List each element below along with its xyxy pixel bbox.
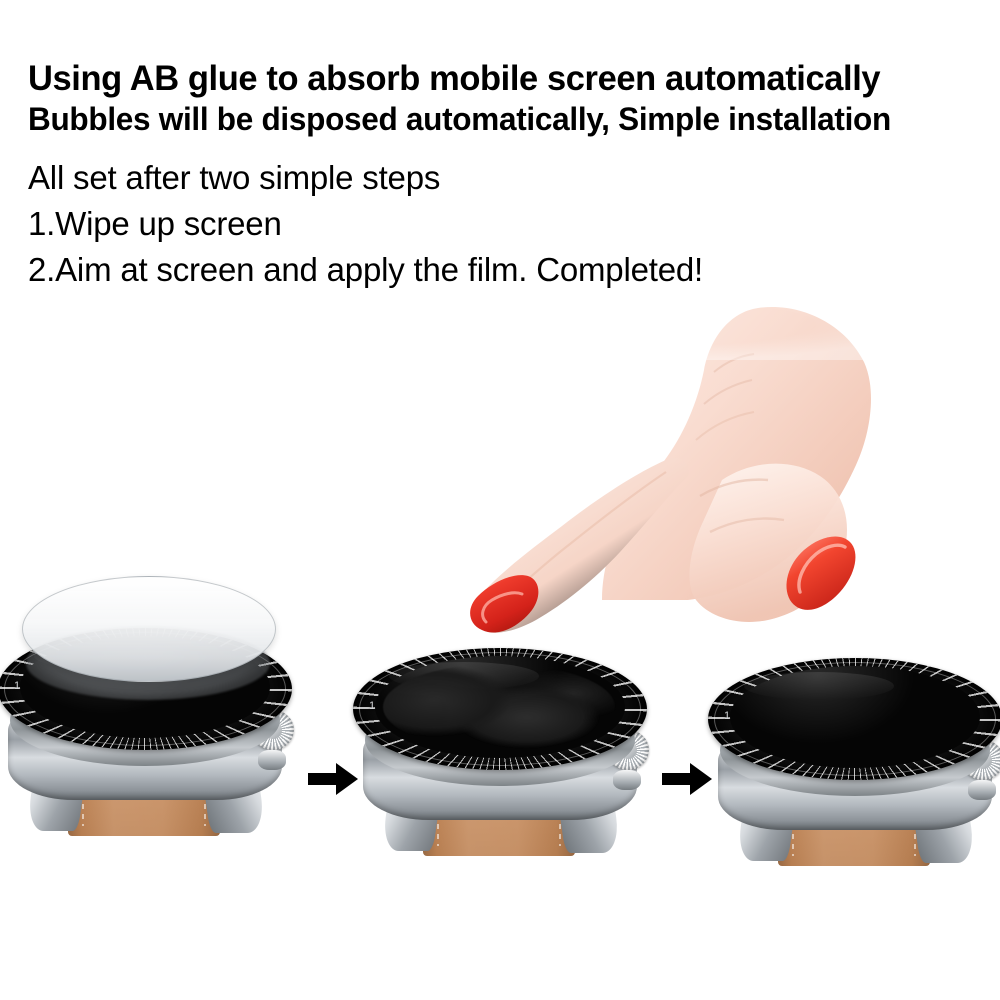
watch-steps-row: Screen protector film hovering above wat… xyxy=(0,540,1000,860)
watch-screen xyxy=(730,666,980,768)
headline-line-1: Using AB glue to absorb mobile screen au… xyxy=(28,58,974,99)
arrow-step-1-to-2-icon xyxy=(306,760,360,798)
watch-pusher-bottom xyxy=(968,780,996,800)
product-instruction-image: Using AB glue to absorb mobile screen au… xyxy=(0,0,1000,1000)
watch-step-3: Film fully applied, bubble free black sc… xyxy=(690,600,1000,900)
watch-pusher-bottom xyxy=(258,750,286,770)
step-1-text: 1.Wipe up screen xyxy=(28,201,988,247)
watch-step-2: Finger pressing film onto watch, glue sp… xyxy=(335,590,665,890)
instruction-text-block: Using AB glue to absorb mobile screen au… xyxy=(28,58,988,293)
glue-bubble-blob xyxy=(383,664,615,750)
watch-step-2-caption: Finger pressing film onto watch, glue sp… xyxy=(335,590,336,591)
hand-description: Hand with index finger pressing the watc… xyxy=(452,300,453,301)
watch-step-1: Screen protector film hovering above wat… xyxy=(0,570,310,870)
headline-line-2: Bubbles will be disposed automatically, … xyxy=(28,99,974,139)
arrow-step-2-to-3-icon xyxy=(660,760,714,798)
screen-gloss-highlight xyxy=(744,672,894,700)
screen-protector-film xyxy=(22,576,276,682)
step-2-text: 2.Aim at screen and apply the film. Comp… xyxy=(28,247,988,293)
watch-pusher-bottom xyxy=(613,770,641,790)
body-line-all-set: All set after two simple steps xyxy=(28,155,988,201)
watch-step-3-caption: Film fully applied, bubble free black sc… xyxy=(690,600,691,601)
